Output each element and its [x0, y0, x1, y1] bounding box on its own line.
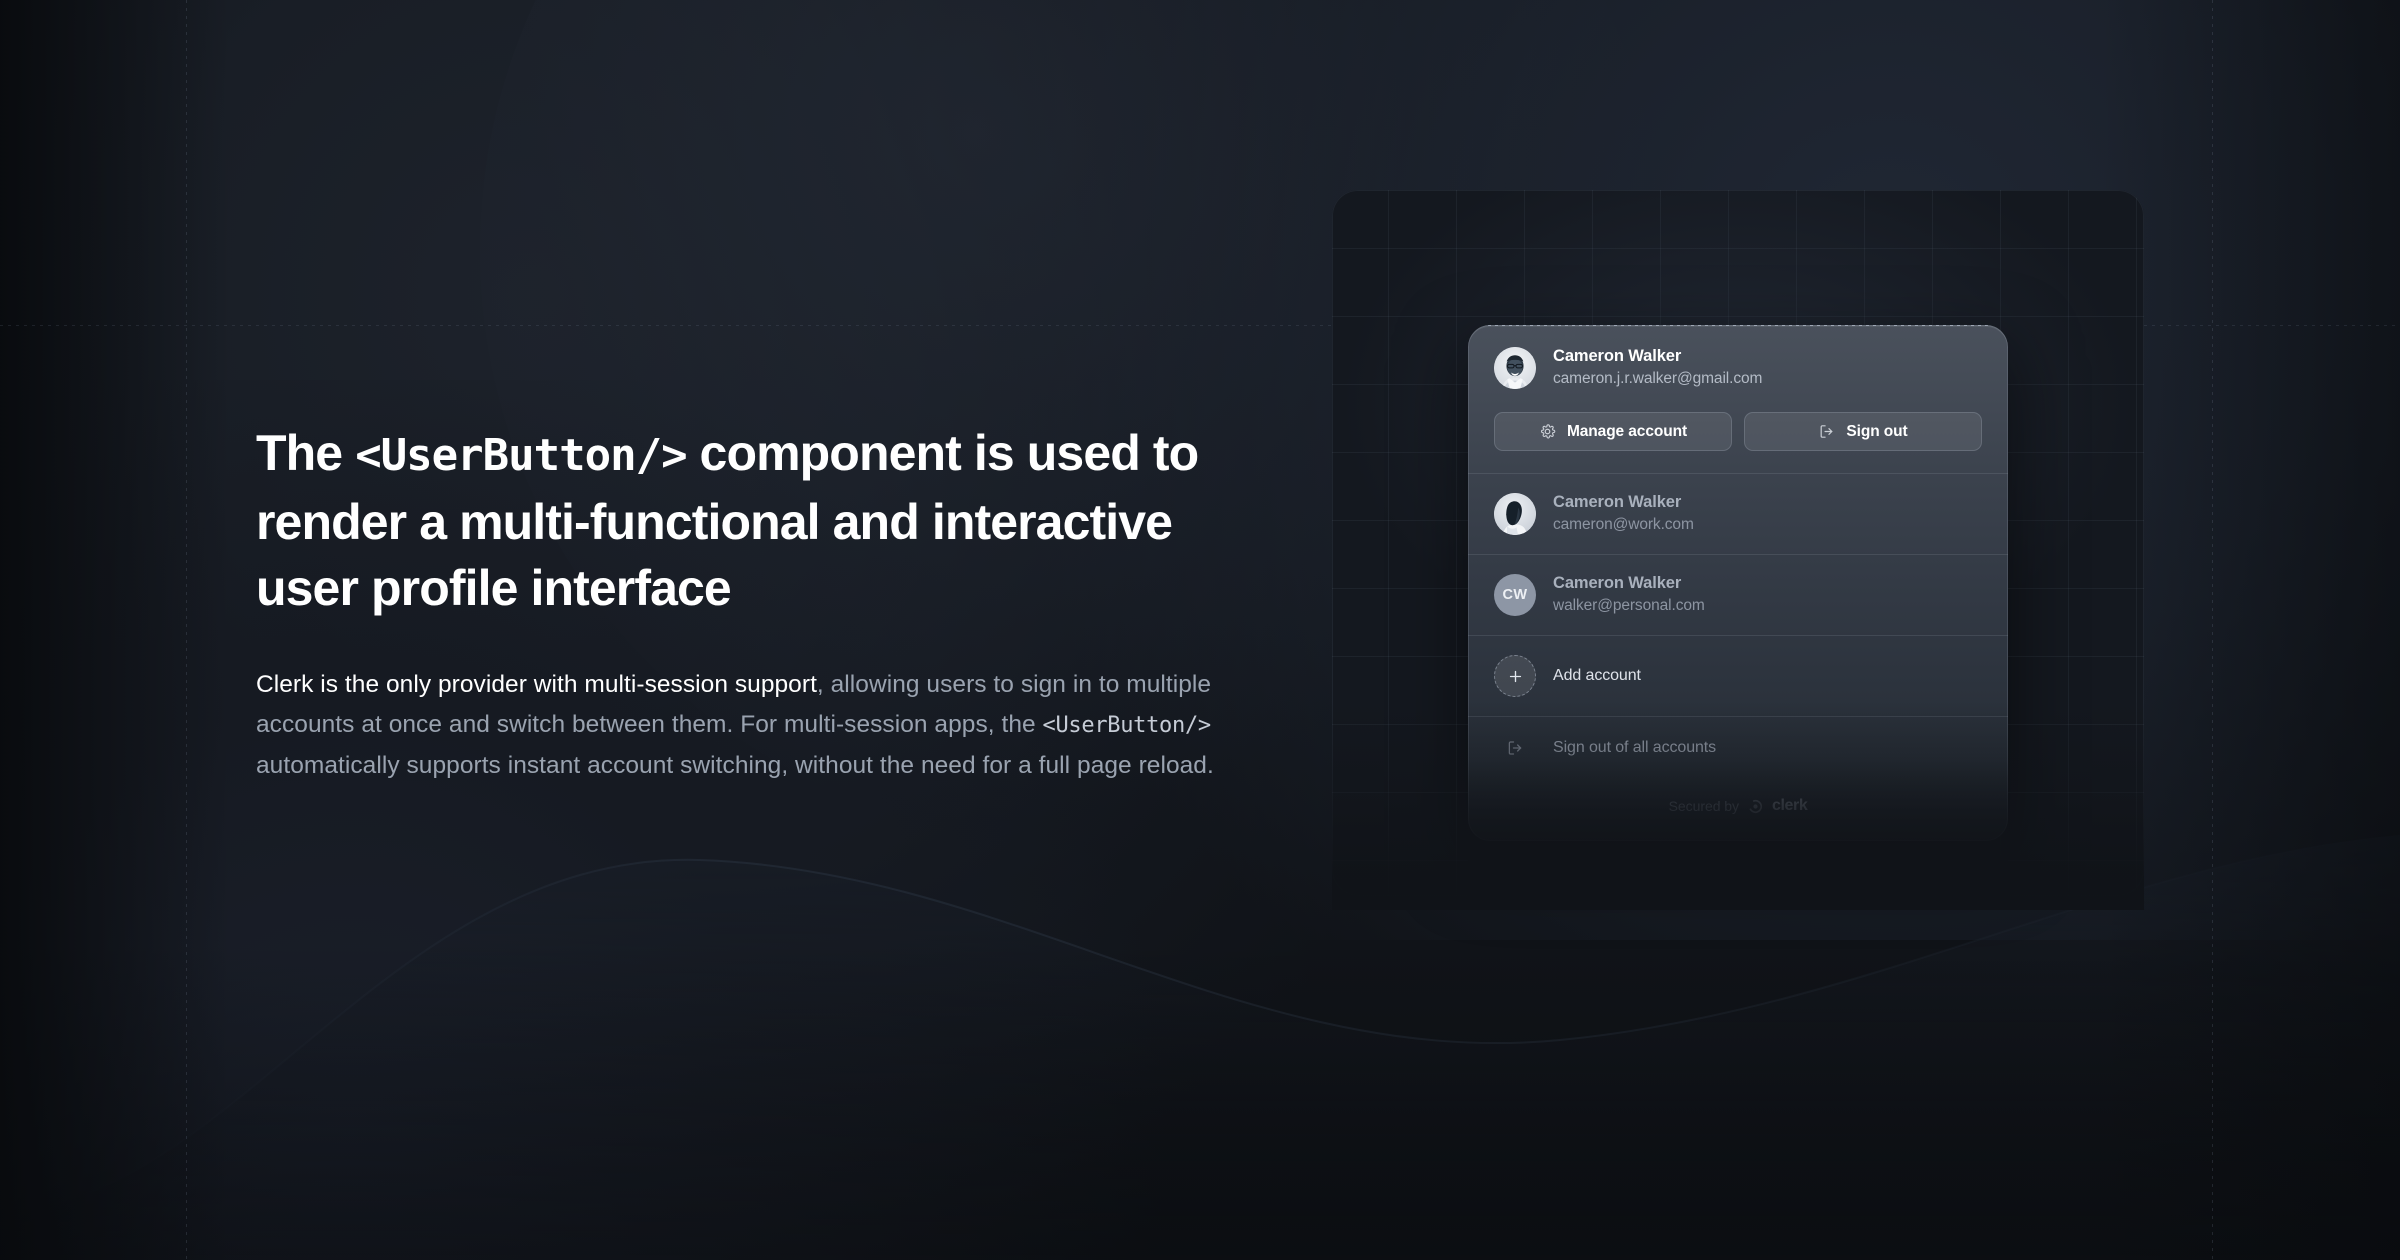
description-code-userbutton: <UserButton/> — [1043, 713, 1211, 738]
guide-line-vertical-right — [2212, 0, 2213, 1260]
clerk-logo-icon — [1748, 799, 1763, 814]
sign-out-all-label: Sign out of all accounts — [1553, 739, 1716, 757]
account-email: cameron@work.com — [1553, 514, 1694, 536]
gear-icon — [1539, 423, 1556, 440]
heading-text-before: The — [256, 425, 355, 481]
account-actions: Manage account Sign out — [1468, 412, 2008, 473]
manage-account-label: Manage account — [1567, 423, 1687, 441]
secured-by-text: Secured by — [1669, 798, 1739, 814]
sign-out-all-icon — [1494, 739, 1536, 757]
clerk-brand-label: clerk — [1772, 797, 1807, 815]
sign-out-label: Sign out — [1846, 423, 1907, 441]
avatar — [1494, 493, 1536, 535]
active-account-row: Cameron Walker cameron.j.r.walker@gmail.… — [1468, 325, 2008, 412]
avatar — [1494, 347, 1536, 389]
sign-out-button[interactable]: Sign out — [1744, 412, 1982, 451]
add-account-row[interactable]: Add account — [1468, 636, 2008, 716]
hero-description: Clerk is the only provider with multi-se… — [256, 665, 1266, 786]
heading-code-userbutton: <UserButton/> — [355, 430, 686, 481]
avatar-initials: CW — [1494, 574, 1536, 616]
sign-out-icon — [1818, 423, 1835, 440]
account-name: Cameron Walker — [1553, 492, 1694, 513]
page-title: The <UserButton/> component is used to r… — [256, 420, 1266, 621]
plus-icon — [1494, 655, 1536, 697]
account-name: Cameron Walker — [1553, 573, 1705, 594]
secured-by-footer: Secured by clerk — [1468, 779, 2008, 841]
guide-line-vertical-left — [186, 0, 187, 1260]
user-button-popover: Cameron Walker cameron.j.r.walker@gmail.… — [1468, 325, 2008, 841]
description-highlight: Clerk is the only provider with multi-se… — [256, 671, 817, 698]
account-email: walker@personal.com — [1553, 595, 1705, 617]
account-name: Cameron Walker — [1553, 346, 1762, 367]
description-text-2: automatically supports instant account s… — [256, 752, 1214, 779]
sign-out-all-row[interactable]: Sign out of all accounts — [1468, 717, 2008, 779]
account-switch-row[interactable]: CW Cameron Walker walker@personal.com — [1468, 555, 2008, 635]
hero-section: The <UserButton/> component is used to r… — [256, 420, 1316, 786]
account-email: cameron.j.r.walker@gmail.com — [1553, 368, 1762, 390]
account-switch-row[interactable]: Cameron Walker cameron@work.com — [1468, 474, 2008, 554]
manage-account-button[interactable]: Manage account — [1494, 412, 1732, 451]
add-account-label: Add account — [1553, 667, 1641, 685]
